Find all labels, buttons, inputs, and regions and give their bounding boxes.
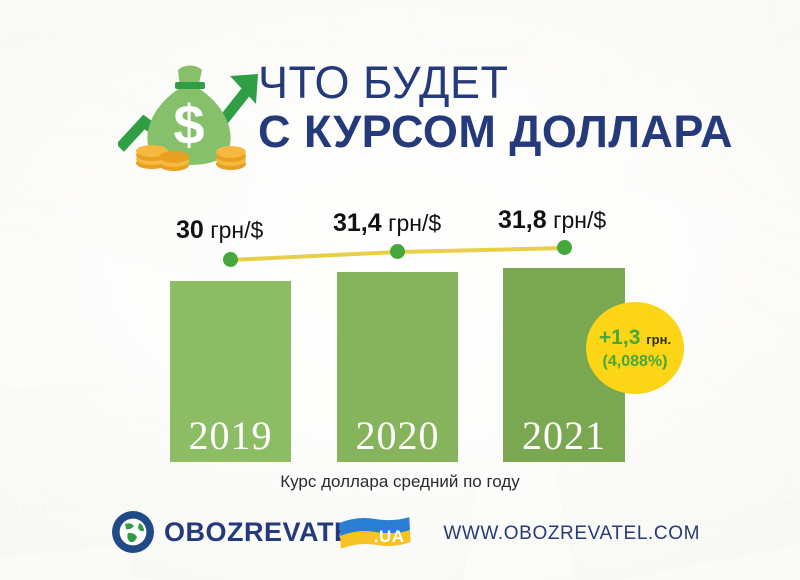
- trend-dot-2021: [557, 240, 572, 255]
- chart-caption: Курс доллара средний по году: [0, 472, 800, 492]
- trend-dot-2019: [223, 252, 238, 267]
- value-unit-2019: грн/$: [210, 217, 263, 243]
- value-unit-2020: грн/$: [388, 210, 441, 236]
- site-url[interactable]: WWW.OBOZREVATEL.COM: [443, 523, 700, 545]
- delta-badge: +1,3 грн. (4,088%): [586, 302, 684, 394]
- infographic-canvas: E55489114BAMERICA THE UNITED STATES ONE …: [0, 0, 800, 580]
- value-number-2021: 31,8: [498, 206, 547, 234]
- bar-year-label-2019: 2019: [170, 416, 291, 456]
- bar-2019: 2019: [170, 281, 291, 462]
- bar-2020: 2020: [337, 272, 458, 462]
- delta-badge-value: +1,3 грн.: [599, 327, 671, 348]
- footer: OBOZREVATEL .UA WWW.OBOZREVATEL.COM: [0, 505, 800, 567]
- bar-year-label-2021: 2021: [503, 416, 625, 456]
- bar-chart: 30 грн/$ 31,4 грн/$ 31,8 грн/$ 2019 2020…: [0, 0, 800, 580]
- obozrevatel-logo[interactable]: OBOZREVATEL .UA: [112, 511, 370, 553]
- delta-badge-percent: (4,088%): [603, 354, 668, 370]
- globe-icon: [112, 511, 154, 553]
- delta-badge-unit: грн.: [646, 332, 671, 347]
- value-label-2021: 31,8 грн/$: [498, 206, 606, 235]
- value-label-2019: 30 грн/$: [176, 216, 263, 245]
- value-number-2020: 31,4: [333, 209, 382, 237]
- logo-wordmark: OBOZREVATEL .UA: [164, 517, 370, 548]
- value-label-2020: 31,4 грн/$: [333, 209, 441, 238]
- value-unit-2021: грн/$: [553, 207, 606, 233]
- logo-domain-suffix: .UA: [374, 527, 405, 547]
- bar-year-label-2020: 2020: [337, 416, 458, 456]
- delta-badge-number: +1,3: [599, 326, 640, 349]
- value-number-2019: 30: [176, 216, 204, 244]
- trend-dot-2020: [390, 244, 405, 259]
